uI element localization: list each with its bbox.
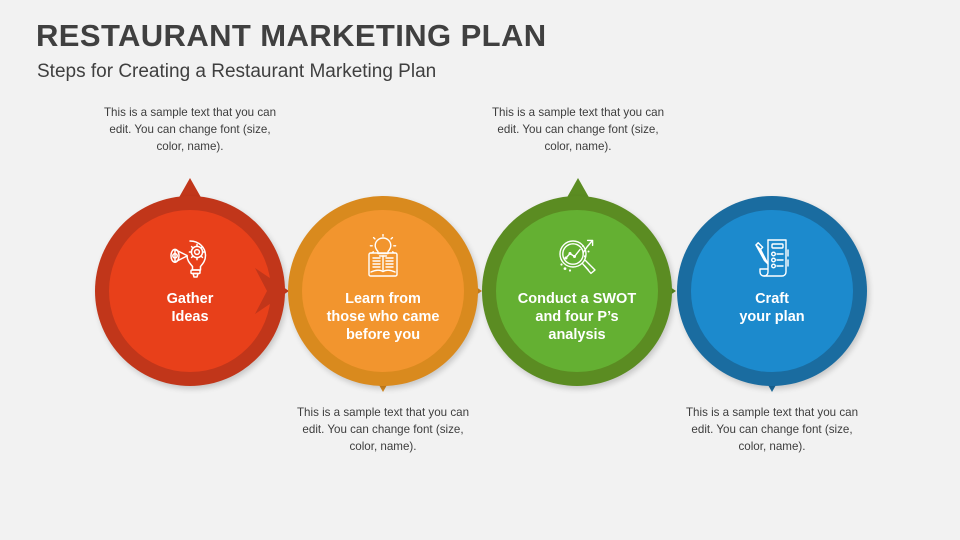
callout-text-2: This is a sample text that you can edit.… — [288, 404, 478, 455]
clipboard-pencil-icon — [744, 234, 800, 284]
step-3-disc: Conduct a SWOT and four P’s analysis — [496, 210, 658, 372]
step-1-label: Gather Ideas — [115, 290, 265, 326]
process-diagram: Gather Ideas — [0, 0, 960, 540]
step-2-disc: Learn from those who came before you — [302, 210, 464, 372]
magnifier-chart-icon — [549, 234, 605, 284]
callout-text-1: This is a sample text that you can edit.… — [95, 104, 285, 155]
step-1-disc: Gather Ideas — [109, 210, 271, 372]
step-4-craft-your-plan[interactable]: Craft your plan — [677, 196, 867, 386]
step-3-swot-four-ps[interactable]: Conduct a SWOT and four P’s analysis — [482, 196, 672, 386]
step-2-label: Learn from those who came before you — [308, 290, 458, 344]
step-4-disc: Craft your plan — [691, 210, 853, 372]
step-3-label: Conduct a SWOT and four P’s analysis — [502, 290, 652, 344]
callout-text-4: This is a sample text that you can edit.… — [677, 404, 867, 455]
open-book-lightbulb-icon — [355, 234, 411, 284]
slide-canvas: RESTAURANT MARKETING PLAN Steps for Crea… — [0, 0, 960, 540]
lightbulb-gear-icon — [162, 234, 218, 284]
step-4-label: Craft your plan — [697, 290, 847, 326]
callout-text-3: This is a sample text that you can edit.… — [483, 104, 673, 155]
step-2-learn-from-others[interactable]: Learn from those who came before you — [288, 196, 478, 386]
